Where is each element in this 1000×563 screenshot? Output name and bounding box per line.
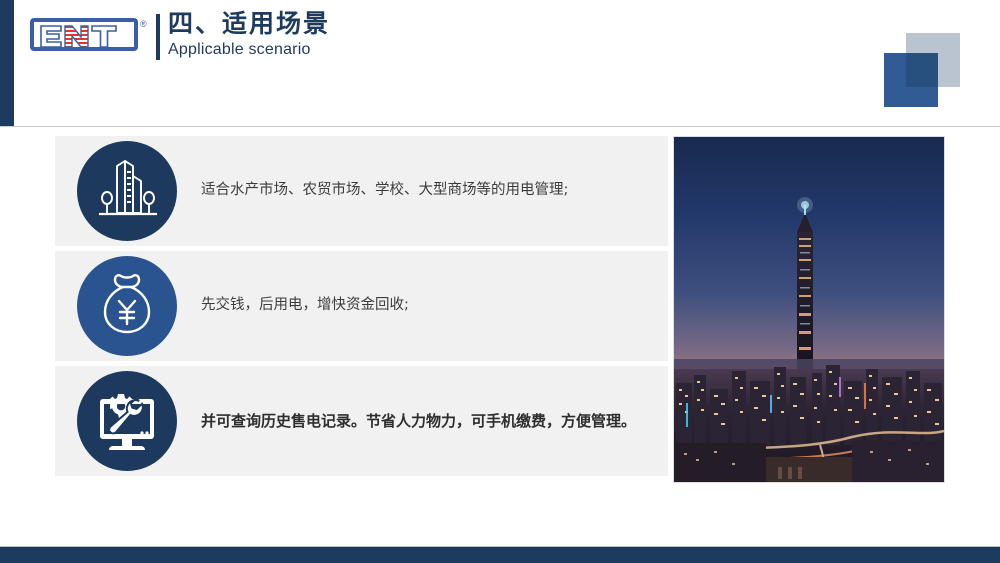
registered-trademark-icon: ®: [140, 20, 147, 29]
list-item-label: 并可查询历史售电记录。节省人力物力，可手机缴费，方便管理。: [201, 366, 654, 476]
list-item: 并可查询历史售电记录。节省人力物力，可手机缴费，方便管理。: [55, 366, 668, 476]
city-skyline-night-photo: [673, 136, 945, 483]
title-divider: [156, 14, 160, 60]
brand-logo: ®: [30, 18, 150, 58]
page-subtitle: Applicable scenario: [168, 41, 311, 59]
list-item: 先交钱，后用电，增快资金回收;: [55, 251, 668, 361]
decor-square-overlap: [906, 53, 938, 87]
list-item-label: 适合水产市场、农贸市场、学校、大型商场等的用电管理;: [201, 136, 654, 246]
slide-root: ® 四、适用场景 Applicable scenario: [0, 0, 1000, 563]
scenario-list: 适合水产市场、农贸市场、学校、大型商场等的用电管理; 先交钱，后用电，增快资金回…: [55, 136, 668, 476]
footer-accent-bar: [0, 547, 1000, 563]
header-divider-line: [0, 126, 1000, 127]
list-item-label: 先交钱，后用电，增快资金回收;: [201, 251, 654, 361]
page-title: 四、适用场景: [168, 10, 330, 39]
header-left-accent-bar: [0, 0, 14, 126]
list-item: 适合水产市场、农贸市场、学校、大型商场等的用电管理;: [55, 136, 668, 246]
building-icon: [77, 141, 177, 241]
money-bag-yen-icon: [77, 256, 177, 356]
logo-ent-icon: [30, 18, 150, 54]
monitor-gear-wrench-icon: [77, 371, 177, 471]
